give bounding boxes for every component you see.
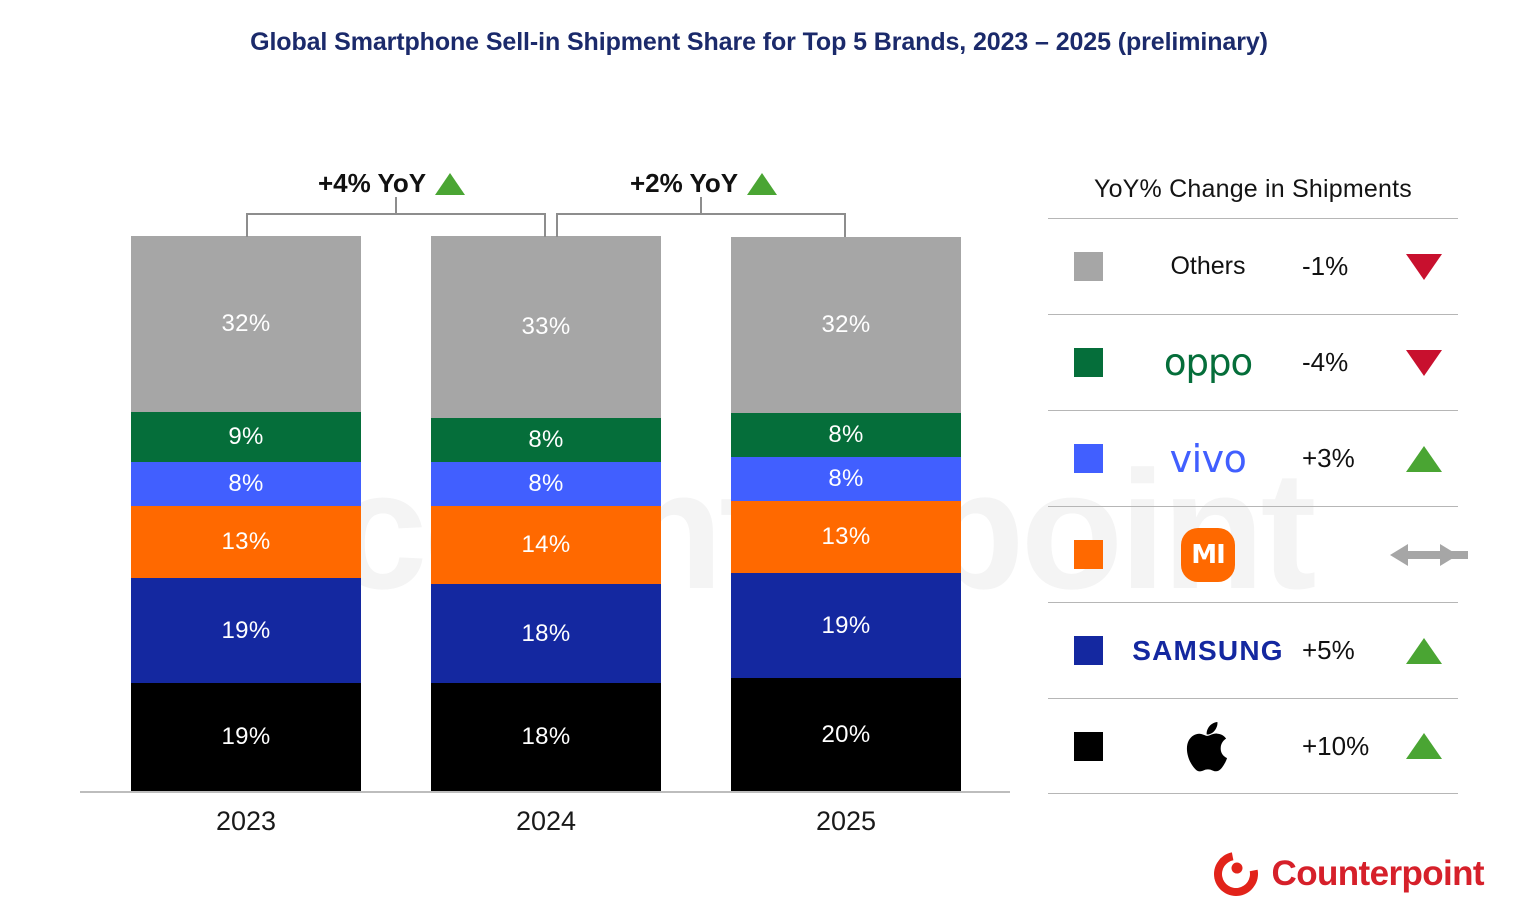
legend-arrow-xiaomi — [1390, 544, 1458, 566]
bracket-stem — [700, 197, 702, 215]
triangle-up-icon — [1406, 638, 1442, 664]
legend-pct-others: -1% — [1302, 251, 1390, 282]
bar-segment-apple-2025: 20% — [731, 678, 961, 791]
legend-row-oppo[interactable]: oppo -4% — [1048, 314, 1458, 410]
bar-segment-others-2024: 33% — [431, 236, 661, 418]
triangle-up-icon — [435, 173, 465, 195]
legend-arrow-others — [1390, 254, 1458, 280]
legend-arrow-oppo — [1390, 350, 1458, 376]
counterpoint-c-mark-icon — [1205, 843, 1266, 904]
legend-row-samsung[interactable]: SAMSUNG +5% — [1048, 602, 1458, 698]
bar-segment-apple-2023: 19% — [131, 683, 361, 791]
legend-brand-xiaomi: MI — [1114, 525, 1302, 585]
chart-page: Global Smartphone Sell-in Shipment Share… — [0, 0, 1518, 924]
legend-brand-apple — [1114, 716, 1302, 776]
stacked-bar-2025: 32% 8% 8% 13% 19% 20% — [731, 237, 961, 791]
legend-row-xiaomi[interactable]: MI — [1048, 506, 1458, 602]
bar-segment-apple-2024: 18% — [431, 683, 661, 791]
legend-pct-apple: +10% — [1302, 731, 1390, 762]
bar-segment-others-2025: 32% — [731, 237, 961, 413]
xiaomi-mi-logo-icon: MI — [1181, 528, 1235, 582]
bar-segment-xiaomi-2024: 14% — [431, 506, 661, 584]
counterpoint-logo: Counterpoint — [1214, 852, 1484, 896]
triangle-up-icon — [1406, 446, 1442, 472]
bar-segment-samsung-2024: 18% — [431, 584, 661, 683]
arrow-head-right — [1440, 544, 1458, 566]
legend-pct-vivo: +3% — [1302, 443, 1390, 474]
legend-arrow-vivo — [1390, 446, 1458, 472]
legend-title: YoY% Change in Shipments — [1048, 175, 1458, 218]
bar-segment-xiaomi-2025: 13% — [731, 501, 961, 573]
legend-panel: YoY% Change in Shipments Others -1% oppo… — [1048, 175, 1458, 794]
bar-segment-oppo-2025: 8% — [731, 413, 961, 457]
bracket-stem — [395, 197, 397, 215]
arrow-shaft — [1406, 551, 1468, 559]
bar-segment-samsung-2025: 19% — [731, 573, 961, 678]
stacked-bar-2024: 33% 8% 8% 14% 18% 18% — [431, 236, 661, 791]
yoy-annotation-2024-2025: +2% YoY — [630, 168, 777, 199]
x-axis-label-2025: 2025 — [731, 806, 961, 837]
legend-arrow-samsung — [1390, 638, 1458, 664]
oppo-logo-icon: oppo — [1164, 341, 1252, 384]
samsung-logo-icon: SAMSUNG — [1132, 635, 1284, 667]
yoy-bracket-2024-2025 — [556, 213, 846, 237]
triangle-up-icon — [1406, 733, 1442, 759]
bar-segment-others-2023: 32% — [131, 236, 361, 412]
bar-segment-vivo-2023: 8% — [131, 462, 361, 506]
counterpoint-logo-text: Counterpoint — [1272, 854, 1484, 894]
legend-swatch-samsung — [1074, 636, 1103, 665]
legend-pct-samsung: +5% — [1302, 635, 1390, 666]
yoy-bracket-2023-2024 — [246, 213, 546, 237]
legend-swatch-oppo — [1074, 348, 1103, 377]
apple-logo-icon — [1186, 720, 1230, 772]
legend-arrow-apple — [1390, 733, 1458, 759]
legend-row-others[interactable]: Others -1% — [1048, 218, 1458, 314]
vivo-logo-icon: vivo — [1170, 437, 1247, 481]
legend-row-apple[interactable]: +10% — [1048, 698, 1458, 794]
legend-swatch-xiaomi — [1074, 540, 1103, 569]
yoy-annotation-2023-2024: +4% YoY — [318, 168, 465, 199]
legend-swatch-apple — [1074, 732, 1103, 761]
yoy-annotation-label: +2% YoY — [630, 168, 738, 199]
stacked-bar-2023: 32% 9% 8% 13% 19% 19% — [131, 236, 361, 791]
legend-brand-label: Others — [1170, 252, 1245, 281]
x-axis-label-2024: 2024 — [431, 806, 661, 837]
bar-segment-samsung-2023: 19% — [131, 578, 361, 683]
bar-segment-oppo-2023: 9% — [131, 412, 361, 462]
x-axis-label-2023: 2023 — [131, 806, 361, 837]
bar-segment-oppo-2024: 8% — [431, 418, 661, 462]
legend-brand-vivo: vivo — [1114, 429, 1302, 489]
plot-area: +4% YoY +2% YoY 32% 9% 8% 13% 19% 19% 33… — [0, 0, 1030, 924]
legend-swatch-vivo — [1074, 444, 1103, 473]
bar-segment-xiaomi-2023: 13% — [131, 506, 361, 578]
yoy-annotation-label: +4% YoY — [318, 168, 426, 199]
legend-swatch-others — [1074, 252, 1103, 281]
bar-segment-vivo-2025: 8% — [731, 457, 961, 501]
triangle-down-icon — [1406, 254, 1442, 280]
legend-row-vivo[interactable]: vivo +3% — [1048, 410, 1458, 506]
triangle-up-icon — [747, 173, 777, 195]
triangle-down-icon — [1406, 350, 1442, 376]
x-axis-line — [80, 791, 1010, 793]
bar-segment-vivo-2024: 8% — [431, 462, 661, 506]
legend-brand-oppo: oppo — [1114, 333, 1302, 393]
legend-brand-others: Others — [1114, 237, 1302, 297]
double-arrow-flat-icon — [1390, 544, 1458, 566]
legend-pct-oppo: -4% — [1302, 347, 1390, 378]
legend-brand-samsung: SAMSUNG — [1114, 621, 1302, 681]
